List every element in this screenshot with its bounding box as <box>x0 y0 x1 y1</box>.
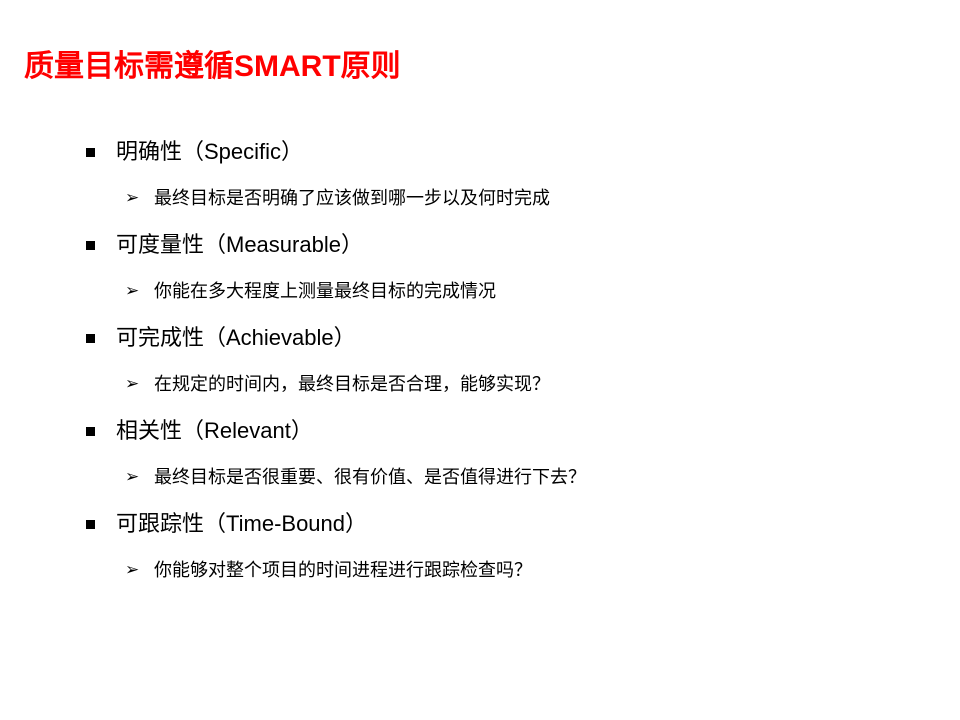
list-item-level2-label: 最终目标是否很重要、很有价值、是否值得进行下去？ <box>154 464 586 490</box>
square-bullet-icon <box>86 241 95 250</box>
list-group: 可跟踪性（Time-Bound） ➢ 你能够对整个项目的时间进程进行跟踪检查吗？ <box>0 505 960 598</box>
list-item-level2-label: 在规定的时间内，最终目标是否合理，能够实现？ <box>154 371 550 397</box>
list-item-level2[interactable]: ➢ 你能够对整个项目的时间进程进行跟踪检查吗？ <box>0 550 960 598</box>
list-item-level1-label: 相关性（Relevant） <box>116 415 313 447</box>
list-item-level2[interactable]: ➢ 最终目标是否明确了应该做到哪一步以及何时完成 <box>0 178 960 226</box>
list-item-level2-label: 你能够对整个项目的时间进程进行跟踪检查吗？ <box>154 557 532 583</box>
slide-canvas: 质量目标需遵循SMART原则 明确性（Specific） ➢ 最终目标是否明确了… <box>0 0 960 720</box>
arrowhead-bullet-icon: ➢ <box>125 468 141 486</box>
list-item-level1-label: 明确性（Specific） <box>116 136 303 168</box>
list-item-level2-label: 最终目标是否明确了应该做到哪一步以及何时完成 <box>154 185 550 211</box>
list-item-level2[interactable]: ➢ 在规定的时间内，最终目标是否合理，能够实现？ <box>0 364 960 412</box>
list-item-level2[interactable]: ➢ 你能在多大程度上测量最终目标的完成情况 <box>0 271 960 319</box>
list-item-level1-label: 可跟踪性（Time-Bound） <box>116 508 367 540</box>
square-bullet-icon <box>86 520 95 529</box>
list-item-level1[interactable]: 相关性（Relevant） <box>0 412 960 457</box>
square-bullet-icon <box>86 334 95 343</box>
list-item-level1-label: 可完成性（Achievable） <box>116 322 356 354</box>
smart-principles-list: 明确性（Specific） ➢ 最终目标是否明确了应该做到哪一步以及何时完成 可… <box>0 133 960 598</box>
arrowhead-bullet-icon: ➢ <box>125 282 141 300</box>
list-item-level1[interactable]: 可跟踪性（Time-Bound） <box>0 505 960 550</box>
arrowhead-bullet-icon: ➢ <box>125 189 141 207</box>
square-bullet-icon <box>86 427 95 436</box>
list-item-level1-label: 可度量性（Measurable） <box>116 229 363 261</box>
list-item-level1[interactable]: 可度量性（Measurable） <box>0 226 960 271</box>
page-title: 质量目标需遵循SMART原则 <box>24 47 401 87</box>
list-item-level2-label: 你能在多大程度上测量最终目标的完成情况 <box>154 278 496 304</box>
square-bullet-icon <box>86 148 95 157</box>
arrowhead-bullet-icon: ➢ <box>125 561 141 579</box>
list-group: 可度量性（Measurable） ➢ 你能在多大程度上测量最终目标的完成情况 <box>0 226 960 319</box>
arrowhead-bullet-icon: ➢ <box>125 375 141 393</box>
list-item-level1[interactable]: 可完成性（Achievable） <box>0 319 960 364</box>
list-group: 可完成性（Achievable） ➢ 在规定的时间内，最终目标是否合理，能够实现… <box>0 319 960 412</box>
list-group: 明确性（Specific） ➢ 最终目标是否明确了应该做到哪一步以及何时完成 <box>0 133 960 226</box>
list-item-level2[interactable]: ➢ 最终目标是否很重要、很有价值、是否值得进行下去？ <box>0 457 960 505</box>
list-group: 相关性（Relevant） ➢ 最终目标是否很重要、很有价值、是否值得进行下去？ <box>0 412 960 505</box>
list-item-level1[interactable]: 明确性（Specific） <box>0 133 960 178</box>
